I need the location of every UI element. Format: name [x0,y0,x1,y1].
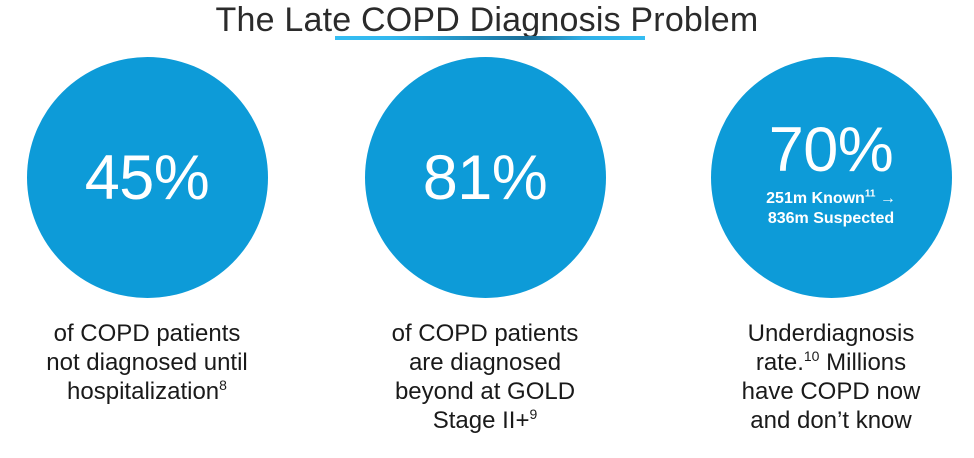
caption-line: are diagnosed [325,348,645,377]
page-title: The Late COPD Diagnosis Problem [0,2,974,38]
caption-line: have COPD now [671,377,974,406]
caption-line: beyond at GOLD [325,377,645,406]
subtext-footnote: 11 [865,189,876,200]
caption-line: hospitalization8 [0,377,307,406]
caption-line: not diagnosed until [0,348,307,377]
stat-subtext-3: 251m Known11 → 836m Suspected [766,189,896,229]
caption-line: and don’t know [671,406,974,435]
caption-text: rate. [756,349,804,376]
stat-value-2: 81% [423,147,548,209]
subtext-suspected: 836m Suspected [768,210,894,227]
caption-footnote: 10 [804,348,820,364]
stat-card-1: 45% of COPD patients not diagnosed until… [0,57,307,406]
caption-footnote: 9 [529,406,537,422]
stat-value-1: 45% [85,147,210,209]
stat-circle-2: 81% [365,57,606,298]
caption-text: hospitalization [67,378,219,405]
caption-footnote: 8 [219,377,227,393]
header: The Late COPD Diagnosis Problem [0,2,974,38]
stat-caption-2: of COPD patients are diagnosed beyond at… [325,319,645,435]
stat-card-3: 70% 251m Known11 → 836m Suspected Underd… [671,57,974,435]
stat-circle-1: 45% [27,57,268,298]
stat-caption-1: of COPD patients not diagnosed until hos… [0,319,307,406]
caption-text: Millions [819,349,906,376]
stat-circle-3: 70% 251m Known11 → 836m Suspected [711,57,952,298]
caption-line: rate.10 Millions [671,348,974,377]
stat-caption-3: Underdiagnosis rate.10 Millions have COP… [671,319,974,435]
stat-value-3: 70% [769,119,894,181]
subtext-known: 251m Known [766,190,865,207]
caption-line: of COPD patients [325,319,645,348]
title-underline-accent [335,36,645,40]
right-arrow-icon: → [880,190,896,207]
stats-row: 45% of COPD patients not diagnosed until… [0,57,974,457]
caption-line: Stage II+9 [325,406,645,435]
caption-text: Stage II+ [433,407,530,434]
caption-line: of COPD patients [0,319,307,348]
caption-line: Underdiagnosis [671,319,974,348]
stat-card-2: 81% of COPD patients are diagnosed beyon… [325,57,645,435]
